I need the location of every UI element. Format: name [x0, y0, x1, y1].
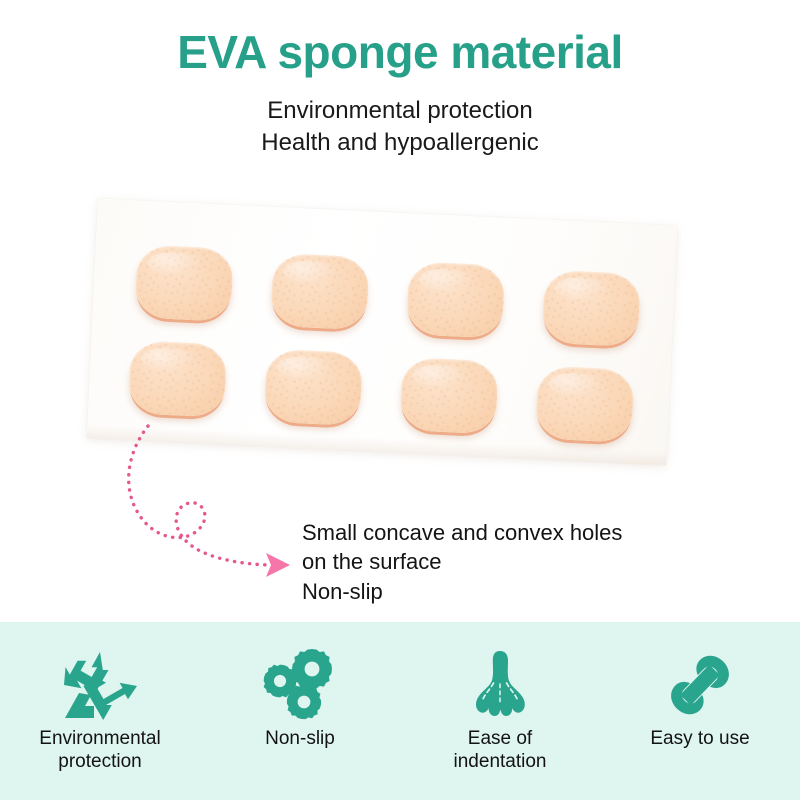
gears-icon	[260, 648, 340, 722]
feature-label: Environmental protection	[39, 728, 160, 774]
sponge-pad	[270, 253, 369, 330]
product-photo	[0, 190, 800, 510]
callout-text-line-2: on the surface	[302, 547, 622, 576]
sponge-pad	[128, 340, 227, 417]
recycle-icon	[61, 648, 139, 722]
feature-label-line-1: Easy to use	[650, 728, 749, 751]
page-subtitle-line-1: Environmental protection	[0, 95, 800, 127]
sponge-pad-grid	[87, 198, 678, 465]
sponge-pad	[406, 261, 505, 338]
feature-bar: Environmental protection	[0, 622, 800, 800]
feature-ease-of-indentation: Ease of indentation	[400, 622, 600, 774]
feature-label: Easy to use	[650, 728, 749, 751]
feature-label: Ease of indentation	[454, 728, 547, 774]
feature-label-line-1: Non-slip	[265, 728, 335, 751]
feature-label-line-1: Ease of	[454, 728, 547, 751]
feature-non-slip: Non-slip	[200, 622, 400, 751]
sponge-pad	[264, 349, 363, 426]
product-infographic: EVA sponge material Environmental protec…	[0, 0, 800, 800]
wrench-icon	[662, 648, 738, 722]
footprint-icon	[471, 648, 529, 722]
feature-label-line-1: Environmental	[39, 728, 160, 751]
page-subtitle-line-2: Health and hypoallergenic	[0, 127, 800, 159]
sponge-pad	[542, 270, 641, 347]
page-subtitle: Environmental protection Health and hypo…	[0, 95, 800, 160]
callout-text-line-3: Non-slip	[302, 577, 622, 606]
sponge-pad	[535, 365, 634, 442]
sponge-pad	[134, 244, 233, 321]
callout-text-line-1: Small concave and convex holes	[302, 518, 622, 547]
feature-environmental-protection: Environmental protection	[0, 622, 200, 774]
callout-text: Small concave and convex holes on the su…	[302, 518, 622, 606]
sponge-pad-sheet	[87, 198, 678, 465]
feature-label: Non-slip	[265, 728, 335, 751]
feature-easy-to-use: Easy to use	[600, 622, 800, 751]
feature-label-line-2: indentation	[454, 751, 547, 774]
sponge-pad	[399, 357, 498, 434]
feature-label-line-2: protection	[39, 751, 160, 774]
page-title: EVA sponge material	[0, 28, 800, 76]
